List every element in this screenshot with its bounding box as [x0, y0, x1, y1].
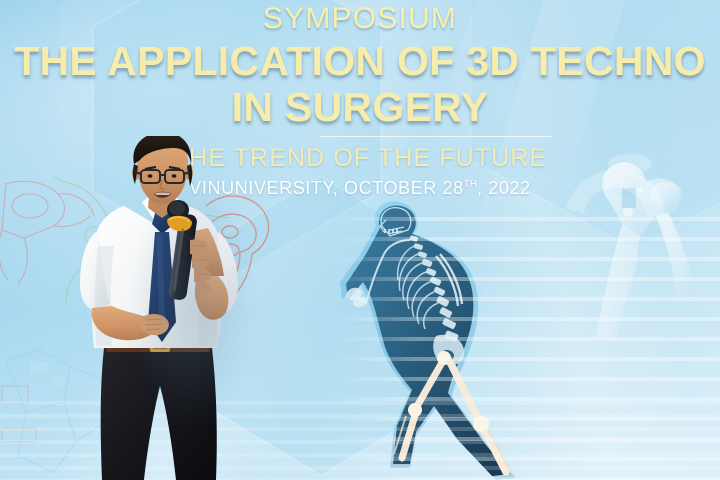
- venue-suffix: , 2022: [477, 178, 531, 198]
- speaker-shadow: [118, 154, 268, 480]
- event-title: THE APPLICATION OF 3D TECHNO IN SURGERY: [0, 38, 720, 130]
- event-title-line-2: IN SURGERY: [0, 84, 720, 130]
- event-title-line-1: THE APPLICATION OF 3D TECHNO: [14, 38, 706, 84]
- speaker-photo: [66, 136, 256, 480]
- event-kicker: SYMPOSIUM: [0, 2, 720, 36]
- venue-ordinal: TH: [464, 179, 477, 190]
- title-divider: [320, 136, 552, 137]
- symposium-stage-photo: SYMPOSIUM THE APPLICATION OF 3D TECHNO I…: [0, 0, 720, 480]
